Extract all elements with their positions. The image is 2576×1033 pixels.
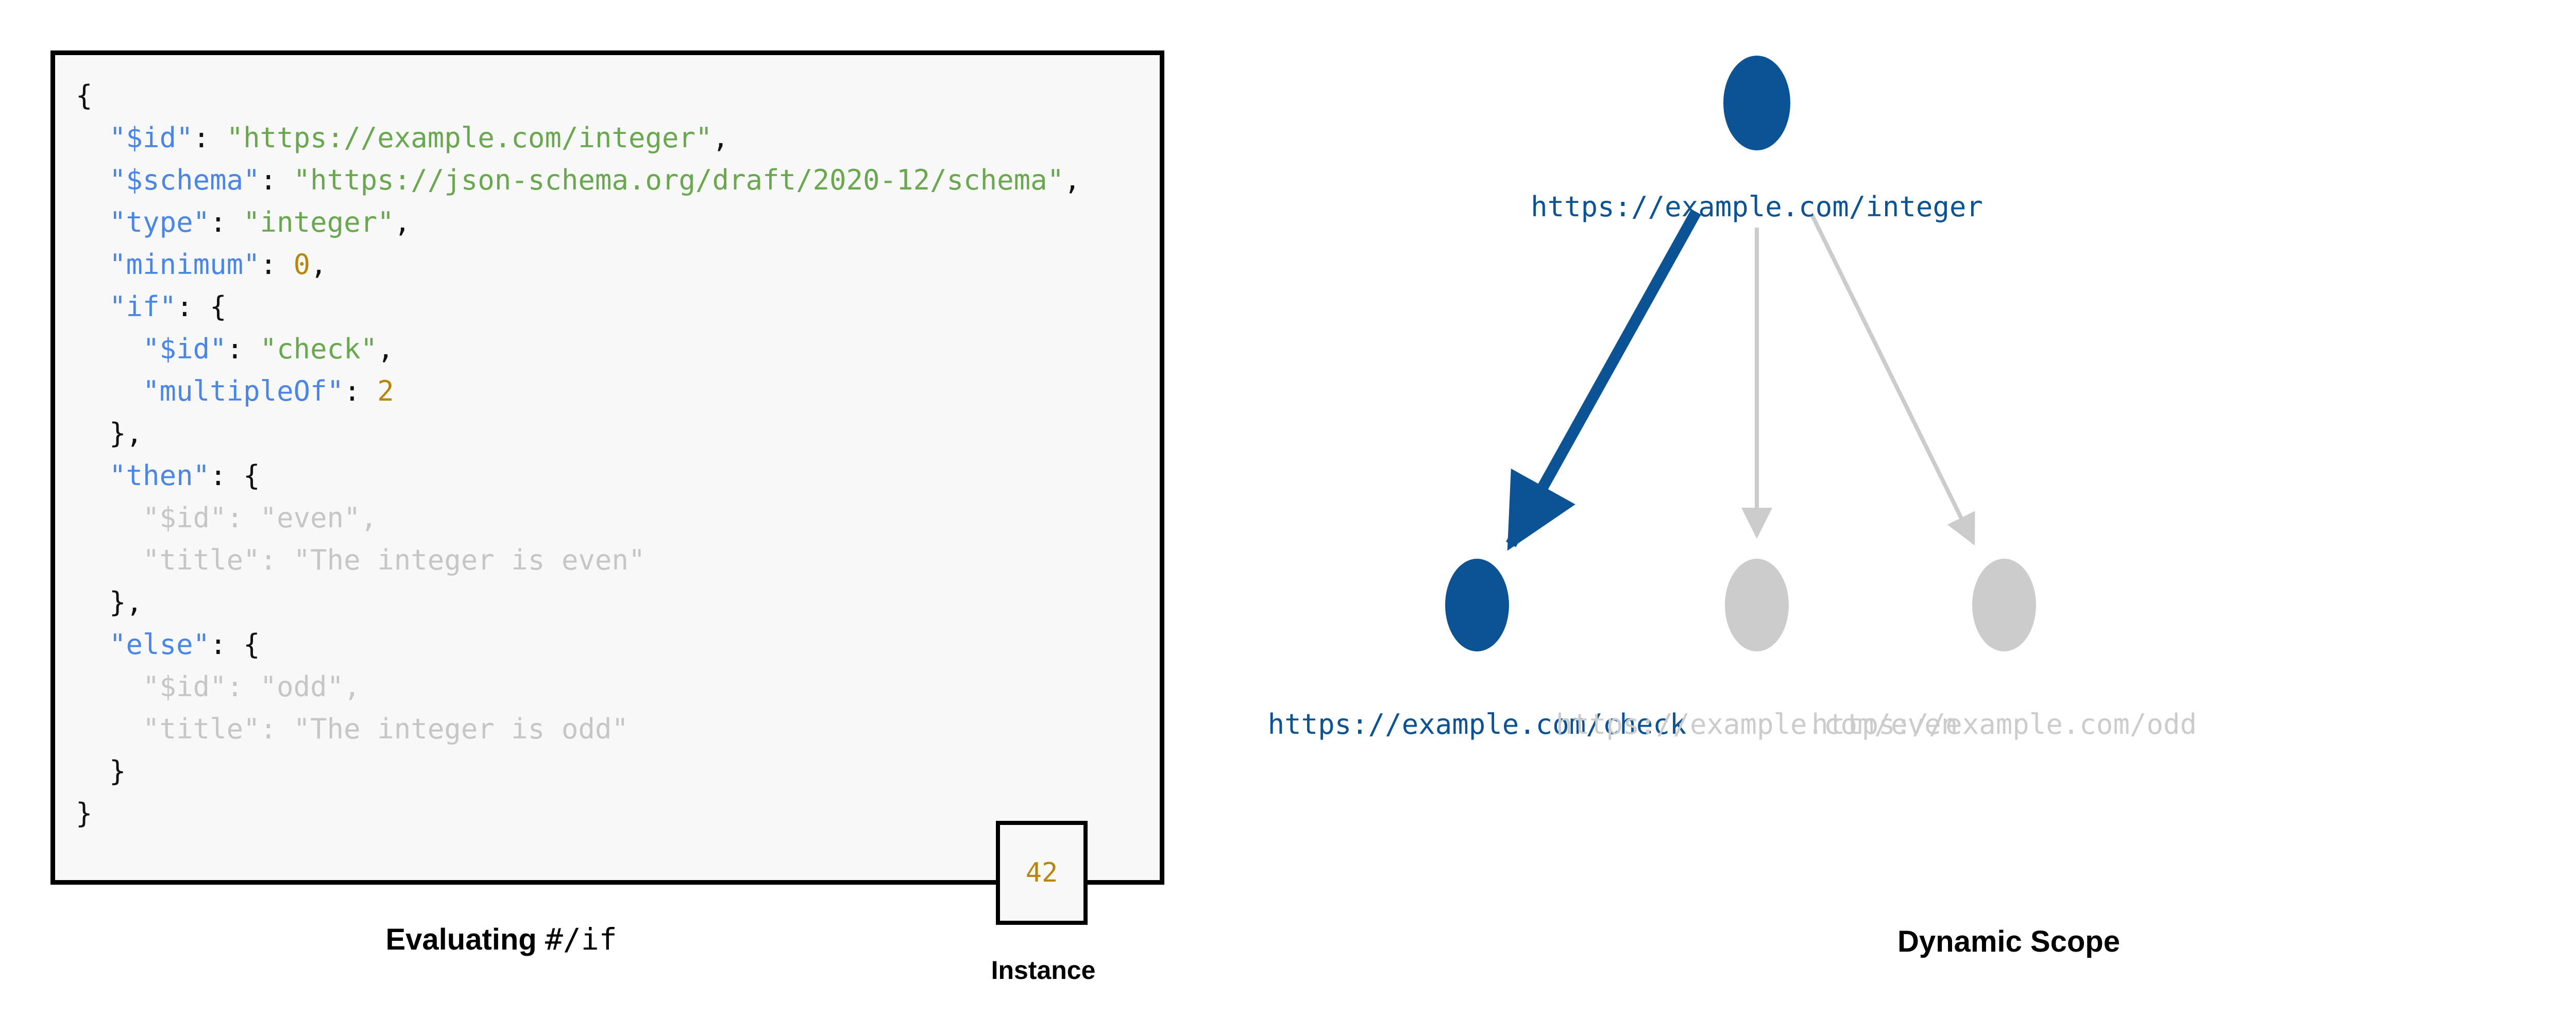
evaluating-caption-pointer: #/if [545,922,617,957]
code-indent [76,502,143,534]
code-token: "https://json-schema.org/draft/2020-12/s… [294,164,1064,196]
graph-node-odd[interactable] [1972,559,2036,651]
code-token: } [109,755,126,787]
code-line: "$id": "https://example.com/integer", [76,117,1081,159]
code-token: , [310,248,327,281]
instance-value: 42 [1026,857,1058,888]
evaluating-caption: Evaluating #/if [50,922,952,957]
code-token: , [1064,164,1081,196]
code-line: "$schema": "https://json-schema.org/draf… [76,159,1081,201]
graph-edge-integer-to-check [1511,212,1697,544]
code-line: "else": { [76,624,1081,666]
code-token: "integer" [243,206,394,238]
graph-node-label-integer: https://example.com/integer [1531,191,1983,223]
code-token: : { [210,459,260,492]
code-token: "else" [109,628,210,661]
code-line: "type": "integer", [76,201,1081,244]
instance-caption: Instance [969,955,1118,985]
dynamic-scope-panel: https://example.com/integerhttps://examp… [1185,0,2576,1033]
code-indent [76,375,143,407]
code-token: : [227,333,260,365]
dynamic-scope-graph: https://example.com/integerhttps://examp… [1185,0,2576,875]
code-token: : [260,164,294,196]
graph-edges [1511,212,1974,544]
code-token: "https://example.com/integer" [227,122,713,154]
code-line: } [76,793,1081,835]
code-line: "title": "The integer is odd" [76,708,1081,750]
code-token: "type" [109,206,210,238]
code-token: "$id": "even", [143,502,377,534]
graph-node-labels: https://example.com/integerhttps://examp… [1268,191,2197,741]
code-token: "$id" [109,122,193,154]
code-indent [76,122,109,154]
code-token: }, [109,417,143,450]
code-token: : [193,122,227,154]
code-indent [76,417,109,450]
code-indent [76,628,109,661]
code-indent [76,290,109,323]
graph-node-check[interactable] [1445,559,1509,651]
code-token: "minimum" [109,248,260,281]
code-token: "title": "The integer is odd" [143,713,629,745]
code-line: "$id": "odd", [76,666,1081,708]
code-indent [76,544,143,576]
code-token: { [76,79,93,112]
code-line: "then": { [76,455,1081,497]
code-token: : [344,375,377,407]
code-line: { [76,75,1081,117]
schema-code-listing: { "$id": "https://example.com/integer", … [76,75,1081,835]
code-token: "if" [109,290,176,323]
code-token: 0 [294,248,311,281]
code-token: }, [109,586,143,618]
graph-edge-integer-to-odd [1812,215,1973,543]
evaluating-schema-panel: { "$id": "https://example.com/integer", … [0,0,1185,1033]
code-token: "$id": "odd", [143,670,361,703]
code-token: "$schema" [109,164,260,196]
graph-node-even[interactable] [1725,559,1789,651]
code-line: "minimum": 0, [76,244,1081,286]
code-line: "if": { [76,286,1081,328]
code-line: }, [76,412,1081,455]
code-token: "then" [109,459,210,492]
graph-node-integer[interactable] [1723,56,1790,150]
code-indent [76,755,109,787]
code-indent [76,248,109,281]
code-token: "$id" [143,333,227,365]
code-line: "$id": "even", [76,497,1081,539]
code-line: "title": "The integer is even" [76,539,1081,581]
code-token: } [76,797,93,830]
code-token: , [394,206,411,238]
schema-code-block: { "$id": "https://example.com/integer", … [50,50,1164,885]
code-line: "multipleOf": 2 [76,370,1081,412]
code-line: }, [76,581,1081,624]
code-line: } [76,750,1081,793]
graph-nodes [1445,56,2036,651]
code-indent [76,713,143,745]
evaluating-caption-prefix: Evaluating [385,923,545,956]
instance-box: 42 [996,821,1088,925]
code-indent [76,164,109,196]
code-token: : [210,206,243,238]
code-indent [76,333,143,365]
code-indent [76,670,143,703]
graph-node-label-odd: https://example.com/odd [1811,708,2197,741]
code-token: "check" [260,333,378,365]
code-token: , [712,122,729,154]
code-token: : { [176,290,227,323]
code-token: : [260,248,294,281]
dynamic-scope-caption: Dynamic Scope [1185,924,2576,959]
code-indent [76,459,109,492]
code-token: 2 [377,375,394,407]
code-indent [76,206,109,238]
code-line: "$id": "check", [76,328,1081,370]
code-token: : { [210,628,260,661]
code-indent [76,586,109,618]
code-token: "title": "The integer is even" [143,544,645,576]
code-token: "multipleOf" [143,375,344,407]
code-token: , [377,333,394,365]
